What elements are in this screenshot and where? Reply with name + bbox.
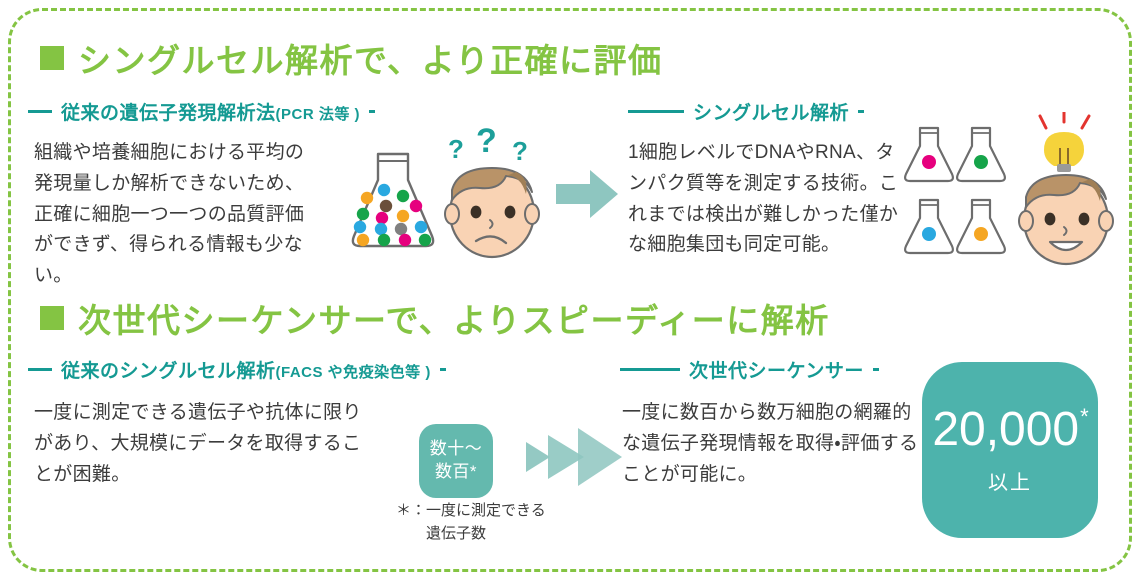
section-1-left-subheading: 従来の遺伝子発現解析法(PCR 法等 ) <box>28 98 494 125</box>
rule-right <box>873 368 879 371</box>
small-flask-icon <box>957 200 1005 253</box>
section-1-right-subheading-label: シングルセル解析 <box>684 98 858 125</box>
section-2-left-subheading-label: 従来のシングルセル解析(FACS や免疫染色等 ) <box>52 356 440 383</box>
capacity-badge-number: 20,000* <box>932 406 1087 454</box>
section-2-right-body: 一度に数百から数万細胞の網羅的な遺伝子発現情報を取得・評価することが可能に。 <box>622 398 922 490</box>
section-2-left-body: 一度に測定できる遺伝子や抗体に限りがあり、大規模にデータを取得することが困難。 <box>34 398 364 490</box>
section-1-right-body: 1細胞レベルでDNAやRNA、タンパク質等を測定する技術。これまでは検出が難しか… <box>628 138 900 261</box>
capacity-badge-subtext: 以上 <box>988 466 1032 495</box>
lightbulb-icon <box>1040 112 1089 172</box>
rule-left <box>628 110 684 113</box>
capacity-badge-line-1: 数十〜 <box>430 438 483 461</box>
section-2-heading-text: 次世代シーケンサーで、よりスピーディーに解析 <box>78 294 830 342</box>
section-1-left-subheading-label: 従来の遺伝子発現解析法(PCR 法等 ) <box>52 98 369 125</box>
confused-face-icon <box>445 168 539 257</box>
happy-face-icon <box>1019 175 1113 264</box>
svg-text:?: ? <box>448 134 464 164</box>
square-bullet-icon <box>40 46 64 70</box>
capacity-badge-line-2: 数百* <box>435 461 477 484</box>
asterisk-icon: * <box>1080 404 1089 429</box>
section-2-left-subheading: 従来のシングルセル解析(FACS や免疫染色等 ) <box>28 356 598 383</box>
arrow-right-icon <box>556 168 620 220</box>
svg-text:?: ? <box>512 136 528 166</box>
section-2-right-subheading-label: 次世代シーケンサー <box>680 356 873 383</box>
small-flask-icon <box>905 128 953 181</box>
capacity-badge-conventional: 数十〜 数百* <box>419 424 493 498</box>
flask-icon <box>353 154 433 246</box>
rule-left <box>28 110 52 113</box>
section-2-heading: 次世代シーケンサーで、よりスピーディーに解析 <box>40 294 830 342</box>
rule-right <box>440 368 446 371</box>
triple-arrow-right-icon <box>524 424 624 490</box>
section-1-heading: シングルセル解析で、より正確に評価 <box>40 34 663 82</box>
flask-many-dots-with-confused-face-illustration: ? ? ? <box>330 128 570 283</box>
capacity-badge-ngs: 20,000* 以上 <box>922 362 1098 538</box>
small-flask-icon <box>957 128 1005 181</box>
rule-right <box>369 110 375 113</box>
infographic-canvas: シングルセル解析で、より正確に評価 従来の遺伝子発現解析法(PCR 法等 ) シ… <box>0 0 1140 580</box>
section-1-left-body: 組織や培養細胞における平均の発現量しか解析できないため、正確に細胞一つ一つの品質… <box>34 138 319 292</box>
small-flask-icon <box>905 200 953 253</box>
rule-left <box>28 368 52 371</box>
rule-right <box>858 110 864 113</box>
question-mark-icon: ? ? ? <box>448 128 528 166</box>
rule-left <box>620 368 680 371</box>
four-flasks-single-dot-with-happy-face-lightbulb-illustration <box>900 112 1136 284</box>
svg-text:?: ? <box>476 128 497 160</box>
footnote-text: ＊：一度に測定できる 遺伝子数 <box>396 500 546 545</box>
square-bullet-icon <box>40 306 64 330</box>
section-1-heading-text: シングルセル解析で、より正確に評価 <box>78 34 663 82</box>
